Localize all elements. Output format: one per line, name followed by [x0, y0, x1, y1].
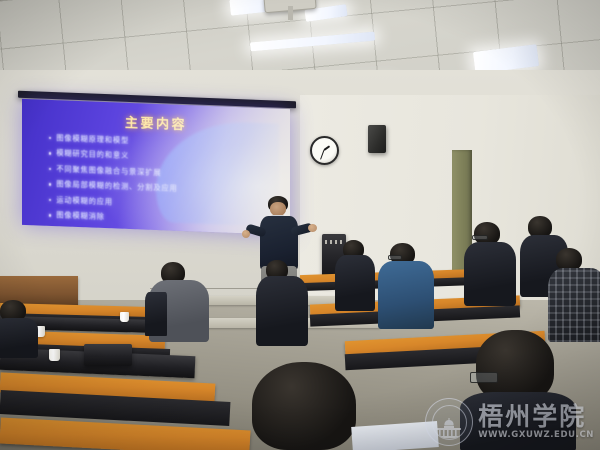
eyeglasses-icon — [472, 235, 488, 240]
slide-bullet-text: 运动模糊的应用 — [56, 195, 113, 207]
bullet-marker-icon — [49, 152, 52, 155]
bullet-marker-icon — [49, 167, 52, 170]
lecture-hall-photo: 主要内容 图像模糊原理和模型 模糊研究目的和意义 不同聚焦图像融合与景深扩展 图… — [0, 0, 600, 450]
audience-member-blue-jacket — [378, 243, 440, 333]
laptop-bag — [84, 344, 132, 366]
audience-member-standing — [256, 260, 326, 358]
paper-cup-3[interactable] — [120, 312, 129, 322]
eyeglasses-icon — [388, 255, 402, 260]
bullet-marker-icon — [49, 183, 52, 186]
wall-speaker — [368, 125, 386, 153]
projector-mount — [288, 6, 293, 20]
audience-member-glasses — [464, 222, 522, 308]
audience-member-left — [145, 262, 225, 352]
audience-body — [378, 261, 434, 329]
watermark-url: WWW.GXUWZ.EDU.CN — [478, 431, 594, 440]
seal-building-icon — [435, 417, 463, 439]
slide-bullet-text: 图像模糊消除 — [56, 210, 105, 222]
watermark-text: 梧州学院 WWW.GXUWZ.EDU.CN — [478, 404, 594, 440]
bullet-marker-icon — [49, 198, 52, 201]
slide-bullet-text: 图像局部模糊的检测、分割及应用 — [56, 179, 177, 194]
audience-body — [335, 255, 375, 311]
audience-member-far-left — [0, 300, 40, 350]
wall-clock — [310, 136, 339, 165]
paper-cup-2[interactable] — [49, 349, 60, 361]
audience-member-r1 — [335, 240, 381, 312]
presenter-left-hand — [242, 230, 250, 238]
bullet-marker-icon — [49, 136, 52, 139]
clock-minute-hand — [320, 150, 324, 159]
watermark: 梧州学院 WWW.GXUWZ.EDU.CN — [425, 398, 594, 446]
bullet-marker-icon — [49, 214, 52, 217]
seal-inner-ring — [432, 405, 467, 440]
audience-body — [256, 276, 308, 346]
audience-head — [252, 362, 356, 450]
slide-bullet-text: 不同聚焦图像融合与景深扩展 — [56, 164, 161, 178]
audience-arm — [145, 292, 167, 336]
slide-bullet-text: 图像模糊原理和模型 — [56, 133, 129, 146]
audience-body — [0, 318, 38, 358]
slide-bullet-text: 模糊研究目的和意义 — [56, 148, 129, 161]
audience-body — [464, 242, 516, 306]
watermark-institution: 梧州学院 — [478, 404, 586, 429]
university-seal-icon — [425, 398, 473, 446]
presenter-right-hand — [308, 224, 317, 232]
presenter-face — [270, 202, 286, 216]
eyeglasses-icon — [470, 372, 498, 383]
